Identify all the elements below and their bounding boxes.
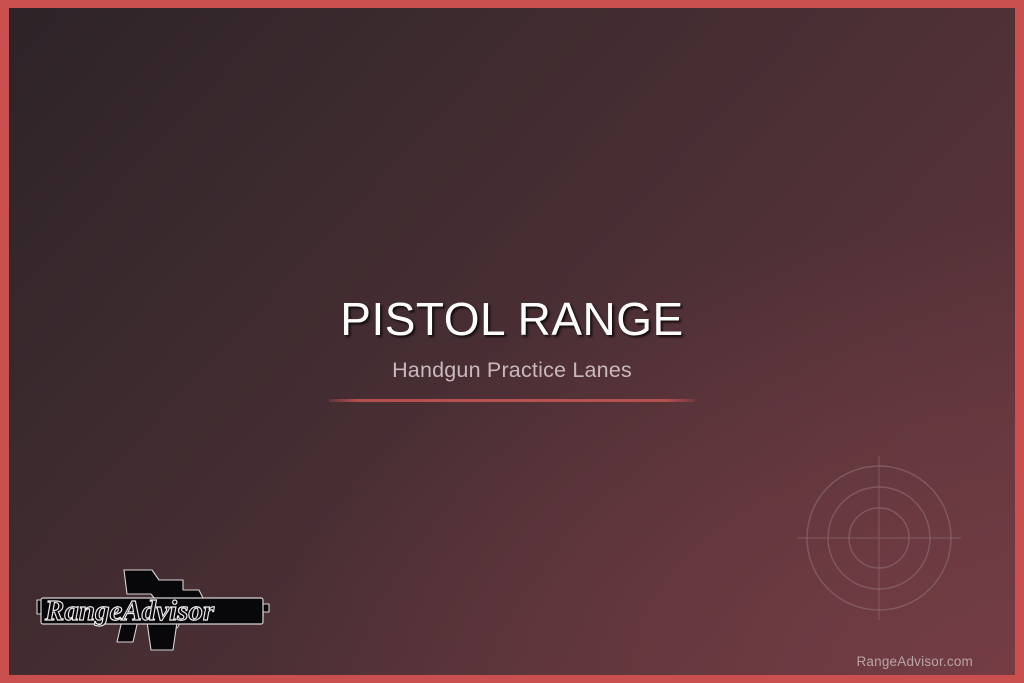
presentation-slide: PISTOL RANGE Handgun Practice Lanes — [0, 0, 1024, 683]
title-divider — [329, 399, 695, 402]
rifle-silhouette-icon: RangeAdvisor — [31, 564, 279, 656]
slide-background: PISTOL RANGE Handgun Practice Lanes — [9, 8, 1015, 675]
brand-wordmark: RangeAdvisor — [44, 595, 215, 627]
title-block: PISTOL RANGE Handgun Practice Lanes — [9, 296, 1015, 402]
page-title: PISTOL RANGE — [9, 296, 1015, 344]
crosshair-target-icon — [790, 449, 968, 627]
page-subtitle: Handgun Practice Lanes — [9, 358, 1015, 384]
site-url-label: RangeAdvisor.com — [856, 654, 973, 669]
